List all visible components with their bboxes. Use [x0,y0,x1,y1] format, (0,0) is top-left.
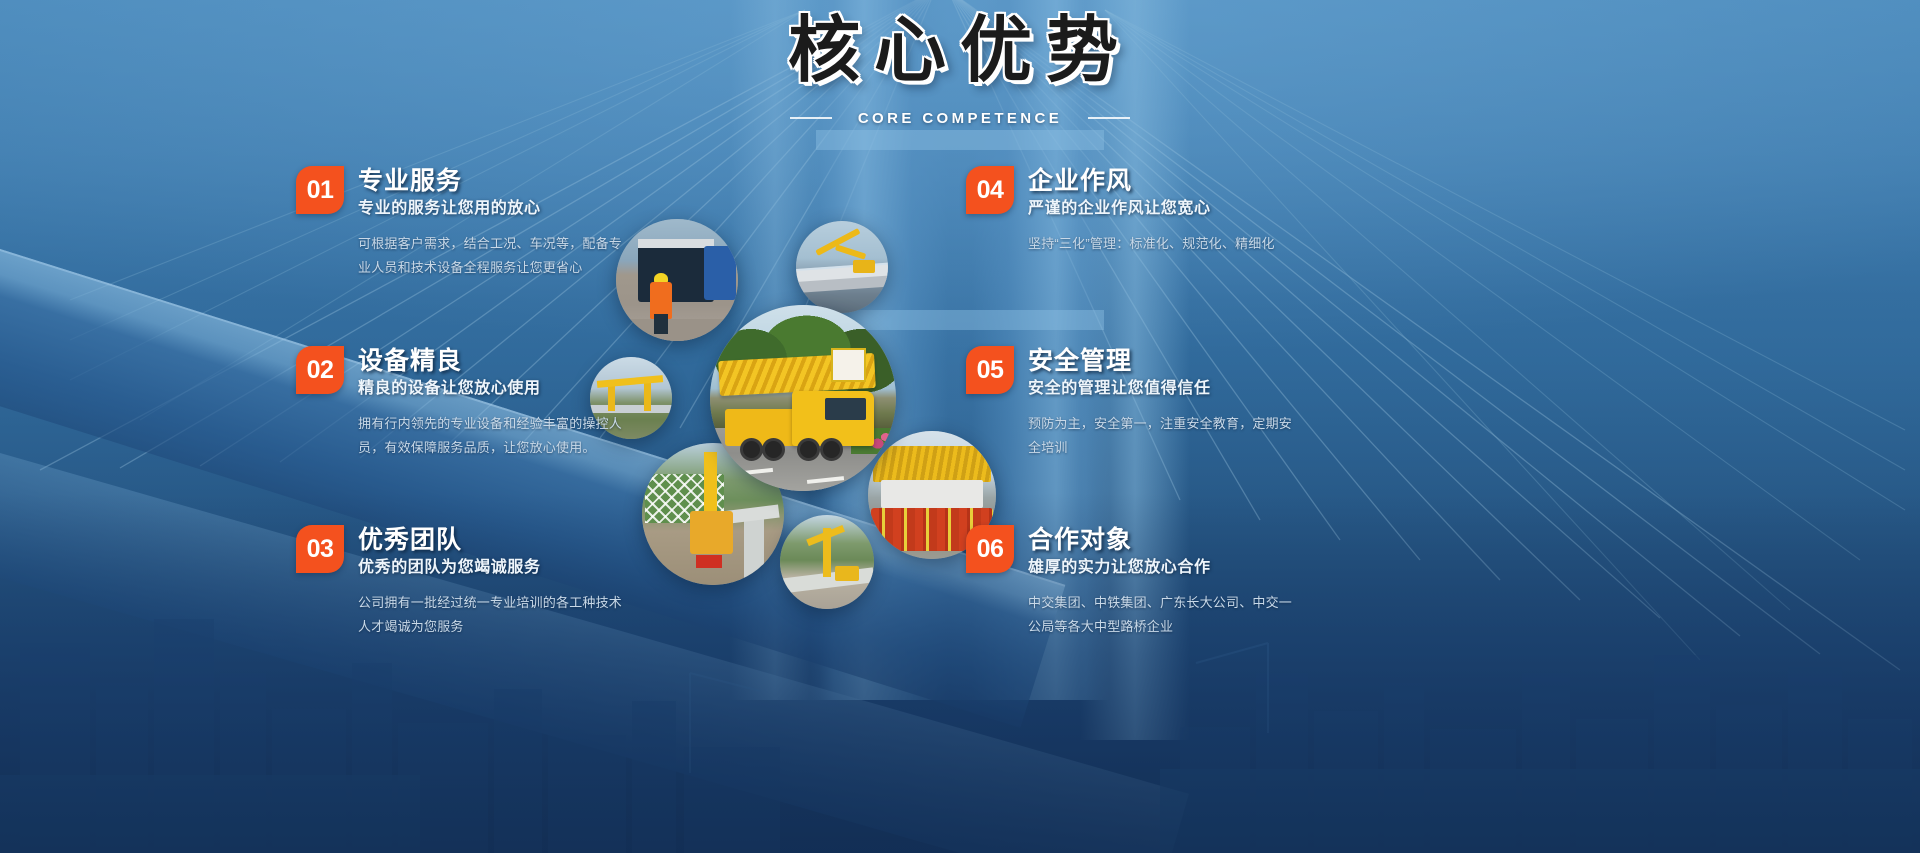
feature-description: 坚持“三化”管理：标准化、规范化、精细化 [1028,232,1296,256]
section-header: 核心优势 CORE COMPETENCE [0,14,1920,127]
divider-dash-right [1088,117,1130,119]
subtitle-row: CORE COMPETENCE [0,110,1920,127]
feature-item-05[interactable]: 05 安全管理 安全的管理让您值得信任 预防为主，安全第一，注重安全教育，定期安… [966,346,1296,460]
feature-text-block: 专业服务 专业的服务让您用的放心 [358,166,541,218]
feature-description: 中交集团、中铁集团、广东长大公司、中交一公局等各大中型路桥企业 [1028,591,1296,639]
feature-number-badge: 01 [296,166,344,214]
feature-title: 设备精良 [358,347,541,375]
feature-text-block: 优秀团队 优秀的团队为您竭诚服务 [358,525,541,577]
photo-bridge-inspection-truck[interactable] [710,305,896,491]
feature-title: 合作对象 [1028,526,1211,554]
page-subtitle: CORE COMPETENCE [858,110,1062,127]
feature-item-04[interactable]: 04 企业作风 严谨的企业作风让您宽心 坚持“三化”管理：标准化、规范化、精细化 [966,166,1296,256]
feature-heading-row: 05 安全管理 安全的管理让您值得信任 [966,346,1296,398]
feature-heading-row: 06 合作对象 雄厚的实力让您放心合作 [966,525,1296,577]
feature-number-badge: 06 [966,525,1014,573]
feature-description: 可根据客户需求，结合工况、车况等，配备专业人员和技术设备全程服务让您更省心 [358,232,626,280]
feature-heading-row: 04 企业作风 严谨的企业作风让您宽心 [966,166,1296,218]
feature-subtitle: 安全的管理让您值得信任 [1028,379,1211,398]
divider-dash-left [790,117,832,119]
feature-heading-row: 01 专业服务 专业的服务让您用的放心 [296,166,626,218]
feature-subtitle: 优秀的团队为您竭诚服务 [358,558,541,577]
feature-subtitle: 雄厚的实力让您放心合作 [1028,558,1211,577]
feature-heading-row: 02 设备精良 精良的设备让您放心使用 [296,346,626,398]
feature-text-block: 安全管理 安全的管理让您值得信任 [1028,346,1211,398]
feature-number-badge: 03 [296,525,344,573]
feature-description: 拥有行内领先的专业设备和经验丰富的操控人员，有效保障服务品质，让您放心使用。 [358,412,626,460]
feature-subtitle: 精良的设备让您放心使用 [358,379,541,398]
photo-hillside-road[interactable] [780,515,874,609]
page-canvas: 核心优势 CORE COMPETENCE [0,0,1920,853]
feature-item-06[interactable]: 06 合作对象 雄厚的实力让您放心合作 中交集团、中铁集团、广东长大公司、中交一… [966,525,1296,639]
feature-text-block: 企业作风 严谨的企业作风让您宽心 [1028,166,1211,218]
page-title: 核心优势 [0,14,1920,90]
feature-number-badge: 02 [296,346,344,394]
feature-title: 优秀团队 [358,526,541,554]
feature-subtitle: 专业的服务让您用的放心 [358,199,541,218]
photo-overpass-inspection[interactable] [796,221,888,313]
feature-number-badge: 04 [966,166,1014,214]
feature-subtitle: 严谨的企业作风让您宽心 [1028,199,1211,218]
feature-item-02[interactable]: 02 设备精良 精良的设备让您放心使用 拥有行内领先的专业设备和经验丰富的操控人… [296,346,626,460]
feature-description: 预防为主，安全第一，注重安全教育，定期安全培训 [1028,412,1296,460]
feature-item-01[interactable]: 01 专业服务 专业的服务让您用的放心 可根据客户需求，结合工况、车况等，配备专… [296,166,626,280]
feature-description: 公司拥有一批经过统一专业培训的各工种技术人才竭诚为您服务 [358,591,626,639]
feature-item-03[interactable]: 03 优秀团队 优秀的团队为您竭诚服务 公司拥有一批经过统一专业培训的各工种技术… [296,525,626,639]
feature-title: 企业作风 [1028,167,1211,195]
photo-cluster [600,215,1000,595]
feature-title: 专业服务 [358,167,541,195]
feature-heading-row: 03 优秀团队 优秀的团队为您竭诚服务 [296,525,626,577]
feature-number-badge: 05 [966,346,1014,394]
feature-text-block: 设备精良 精良的设备让您放心使用 [358,346,541,398]
feature-text-block: 合作对象 雄厚的实力让您放心合作 [1028,525,1211,577]
feature-title: 安全管理 [1028,347,1211,375]
